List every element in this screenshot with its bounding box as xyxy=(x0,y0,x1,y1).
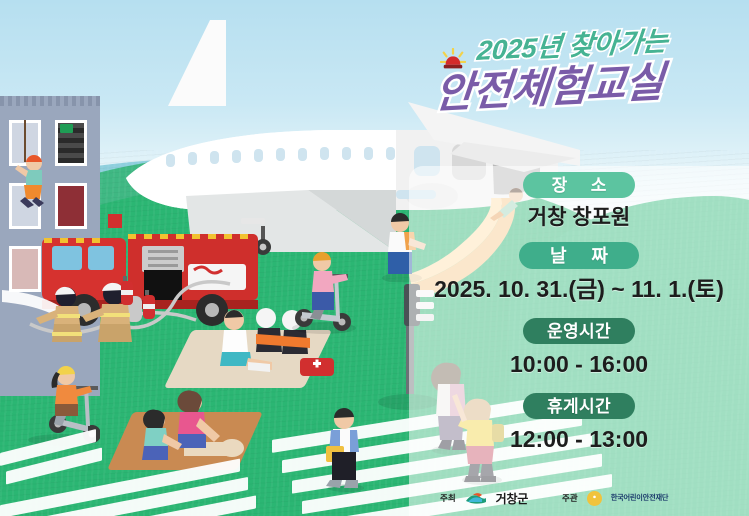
info-hours-value: 10:00 - 16:00 xyxy=(510,353,648,376)
badge-place-label: 장 소 xyxy=(523,172,635,198)
footer-sponsors: 주최 거창군 주관 한국어린이안전재단 xyxy=(440,486,720,510)
info-place-value: 거창 창포원 xyxy=(528,207,630,228)
korea-child-safety-foundation-logo xyxy=(587,491,602,506)
scooter-rider-center xyxy=(288,248,364,334)
badge-break-label: 휴게시간 xyxy=(523,393,635,419)
info-break-value: 12:00 - 13:00 xyxy=(510,428,648,451)
emergency-exit-sign xyxy=(60,124,73,133)
person-rappelling xyxy=(12,153,52,209)
info-date-value: 2025. 10. 31.(금) ~ 11. 1.(토) xyxy=(434,278,724,301)
fire-extinguisher xyxy=(118,276,138,308)
badge-hours-label: 운영시간 xyxy=(523,318,635,344)
safety-experience-poster: 장 소 거창 창포원 날 짜 2025. 10. 31.(금) ~ 11. 1.… xyxy=(0,0,749,516)
organizer-name: 한국어린이안전재단 xyxy=(611,493,669,503)
firefighter-back xyxy=(72,280,150,344)
poster-title: 2025년 찾아가는 2025년 찾아가는 안전체험교실 안전체험교실 xyxy=(428,18,718,106)
pedestrian-with-bag xyxy=(316,406,376,492)
badge-date-label: 날 짜 xyxy=(519,242,639,269)
host-name: 거창군 xyxy=(496,490,528,507)
airplane-tail-fin xyxy=(150,14,280,109)
geochang-county-logo xyxy=(465,491,487,505)
info-panel: 장 소 거창 창포원 날 짜 2025. 10. 31.(금) ~ 11. 1.… xyxy=(409,166,749,516)
fire-extinguisher xyxy=(140,290,160,322)
building-roof-edge xyxy=(0,96,100,106)
organizer-label: 주관 xyxy=(562,492,578,504)
host-label: 주최 xyxy=(440,492,456,504)
title-line2: 안전체험교실 xyxy=(433,48,667,121)
